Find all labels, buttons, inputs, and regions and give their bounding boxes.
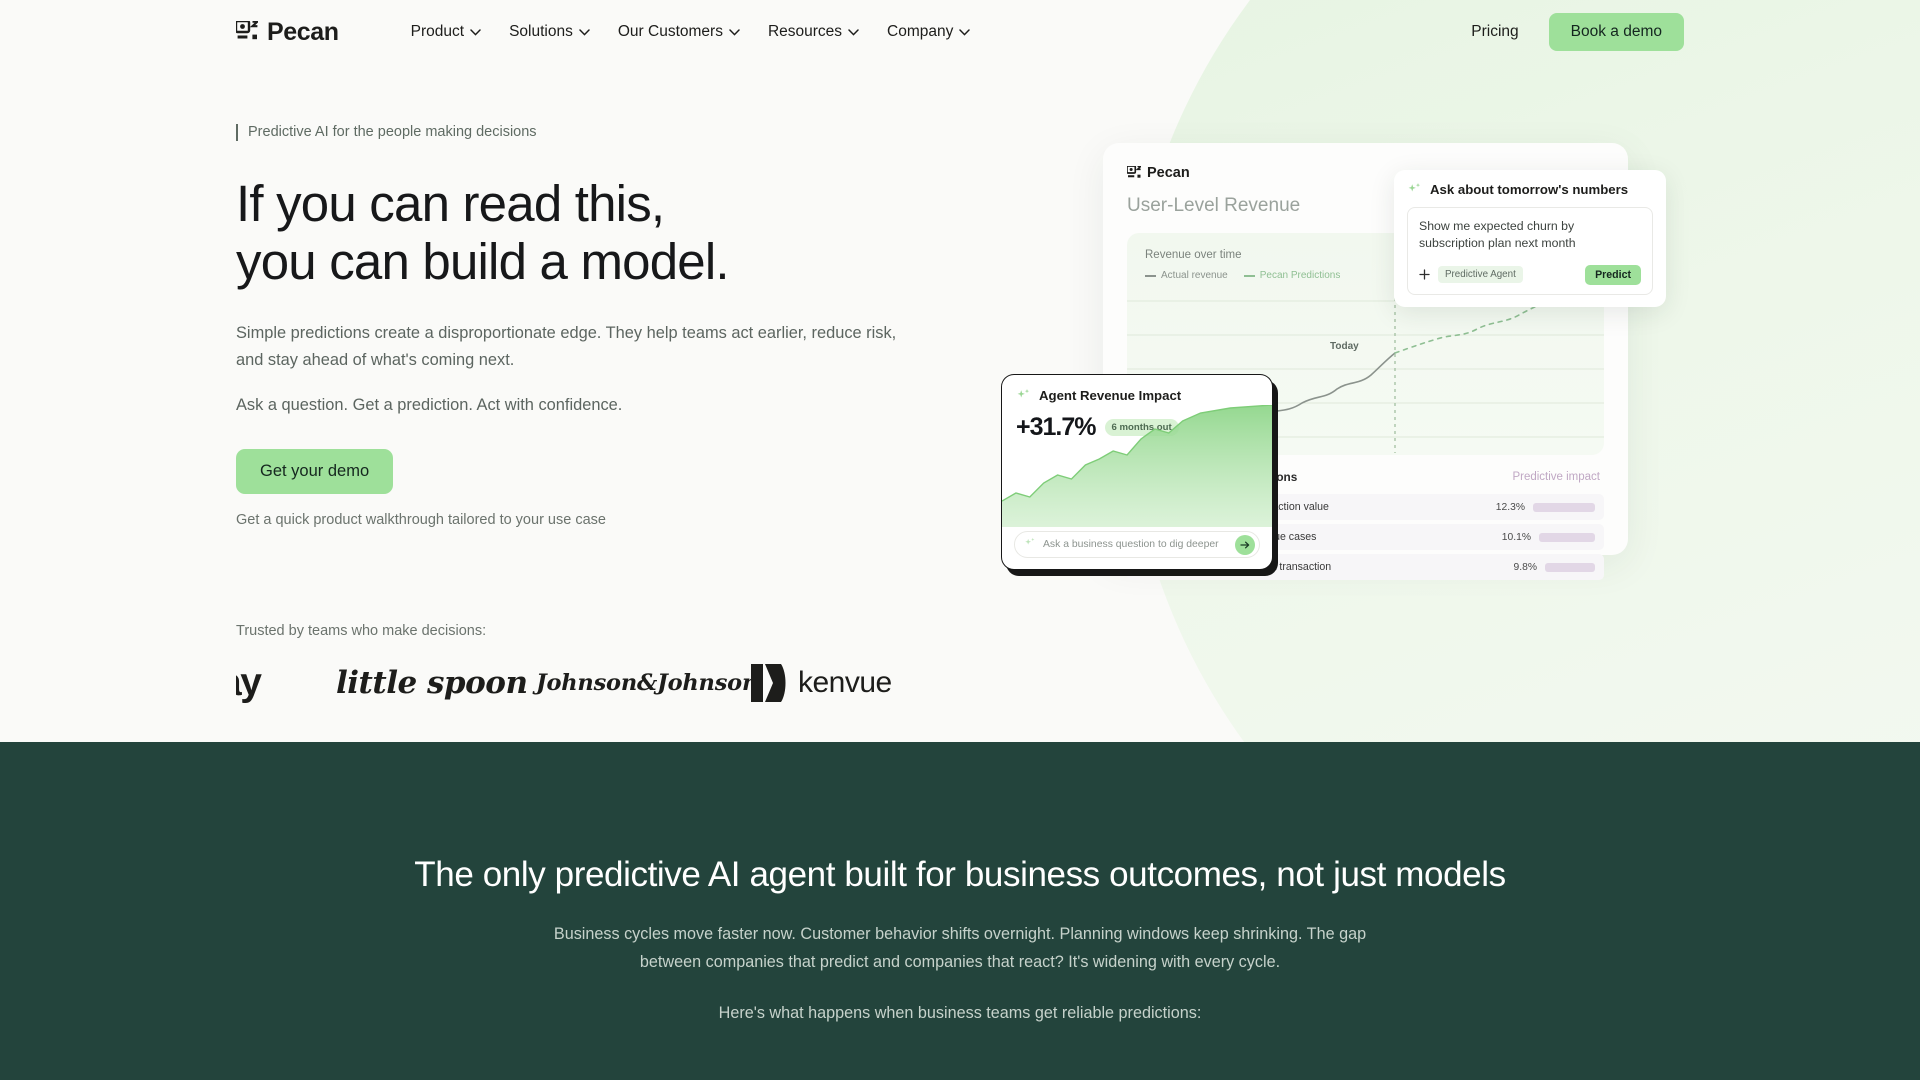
little-spoon-logo-text: little spoon — [336, 665, 528, 701]
row-percent: 10.1% — [1502, 532, 1531, 543]
sparkle-icon — [1407, 182, 1422, 197]
kenvue-logo-text: kenvue — [798, 666, 892, 700]
ask-about-numbers-card: Ask about tomorrow's numbers Show me exp… — [1394, 170, 1666, 307]
predictive-impact-label: Predictive impact — [1512, 471, 1600, 483]
legend-dashed-line-icon — [1244, 275, 1255, 277]
nav-item-company[interactable]: Company — [887, 23, 970, 41]
today-annotation-label: Today — [1330, 341, 1359, 352]
legend-solid-line-icon — [1145, 275, 1156, 277]
ask-card-footer: Predictive Agent Predict — [1419, 265, 1641, 285]
nav-item-our-customers[interactable]: Our Customers — [618, 23, 740, 41]
ebay-logo-text: ay — [236, 661, 260, 705]
section-paragraph: Business cycles move faster now. Custome… — [530, 921, 1390, 977]
get-your-demo-button[interactable]: Get your demo — [236, 449, 393, 494]
impact-input-placeholder: Ask a business question to dig deeper — [1043, 539, 1219, 550]
nav-item-resources[interactable]: Resources — [768, 23, 859, 41]
nav-label: Resources — [768, 23, 842, 41]
hero-eyebrow: Predictive AI for the people making deci… — [236, 124, 537, 141]
plus-icon[interactable] — [1419, 269, 1430, 280]
nav-item-product[interactable]: Product — [411, 23, 481, 41]
hero-sub-line-2: Ask a question. Get a prediction. Act wi… — [236, 392, 906, 420]
kenvue-logo: kenvue — [751, 657, 971, 709]
pecan-square-mark-icon — [1127, 166, 1141, 180]
nav-label: Company — [887, 23, 953, 41]
section-paragraph-line-1: Business cycles move faster now. Custome… — [530, 921, 1390, 949]
nav-label: Product — [411, 23, 464, 41]
site-header: Pecan Product Solutions Our Customers Re… — [0, 0, 1920, 64]
hero-sub-line-1: Simple predictions create a disproportio… — [236, 320, 906, 348]
impact-card-header: Agent Revenue Impact — [1016, 388, 1258, 403]
ask-card-question-text: Show me expected churn by subscription p… — [1419, 218, 1641, 253]
legend-label: Pecan Predictions — [1260, 270, 1341, 281]
arrow-right-icon[interactable] — [1235, 535, 1255, 555]
ask-card-title: Ask about tomorrow's numbers — [1430, 182, 1628, 197]
hero-content: Predictive AI for the people making deci… — [0, 64, 1920, 709]
impact-card-title: Agent Revenue Impact — [1039, 388, 1181, 403]
section-closing-line: Here's what happens when business teams … — [0, 1004, 1920, 1023]
legend-label: Actual revenue — [1161, 270, 1228, 281]
section-paragraph-line-2: between companies that predict and compa… — [530, 949, 1390, 977]
agent-revenue-impact-card: Agent Revenue Impact +31.7% 6 months out… — [1001, 374, 1273, 570]
hero-subtitle: Simple predictions create a disproportio… — [236, 320, 906, 420]
chevron-down-icon — [959, 29, 970, 36]
little-spoon-logo: little spoon — [336, 657, 536, 709]
jnj-logo-text: Johnson&Johnson — [536, 670, 758, 696]
pecan-square-mark-icon — [236, 21, 258, 43]
legend-actual-revenue: Actual revenue — [1145, 270, 1228, 281]
brand-logo-text: Pecan — [267, 18, 339, 47]
nav-item-solutions[interactable]: Solutions — [509, 23, 590, 41]
ebay-logo: ay — [236, 657, 336, 709]
section-title: The only predictive AI agent built for b… — [0, 854, 1920, 896]
row-impact-bar — [1539, 533, 1595, 542]
mockup-brand-text: Pecan — [1147, 165, 1190, 181]
impact-area-chart — [1002, 405, 1272, 527]
ask-card-header: Ask about tomorrow's numbers — [1407, 182, 1653, 197]
main-navigation: Product Solutions Our Customers Resource… — [411, 23, 971, 41]
sparkle-icon — [1024, 536, 1036, 554]
chevron-down-icon — [729, 29, 740, 36]
johnson-and-johnson-logo: Johnson&Johnson — [536, 657, 751, 709]
brand-logo[interactable]: Pecan — [236, 18, 339, 47]
chevron-down-icon — [579, 29, 590, 36]
impact-question-input[interactable]: Ask a business question to dig deeper — [1014, 531, 1260, 558]
legend-pecan-predictions: Pecan Predictions — [1244, 270, 1341, 281]
pricing-link[interactable]: Pricing — [1471, 23, 1518, 41]
customer-logo-strip: ay little spoon Johnson&Johnson kenvue — [236, 657, 1684, 709]
header-actions: Pricing Book a demo — [1471, 13, 1684, 51]
row-percent: 12.3% — [1496, 502, 1525, 513]
nav-label: Solutions — [509, 23, 573, 41]
nav-label: Our Customers — [618, 23, 723, 41]
hero-sub-line-1b: and stay ahead of what's coming next. — [236, 347, 906, 375]
trusted-by-label: Trusted by teams who make decisions: — [236, 623, 1684, 639]
row-percent: 9.8% — [1514, 562, 1537, 573]
hero-section: Pecan Product Solutions Our Customers Re… — [0, 0, 1920, 742]
book-a-demo-button[interactable]: Book a demo — [1549, 13, 1684, 51]
predictive-agent-chip[interactable]: Predictive Agent — [1438, 266, 1523, 283]
row-impact-bar — [1533, 503, 1595, 512]
value-proposition-section: The only predictive AI agent built for b… — [0, 742, 1920, 1080]
kenvue-mark-icon — [751, 664, 787, 702]
ask-card-input-box[interactable]: Show me expected churn by subscription p… — [1407, 207, 1653, 295]
row-impact-bar — [1545, 563, 1595, 572]
chevron-down-icon — [848, 29, 859, 36]
chevron-down-icon — [470, 29, 481, 36]
predict-button[interactable]: Predict — [1585, 265, 1641, 285]
sparkle-icon — [1016, 388, 1031, 403]
